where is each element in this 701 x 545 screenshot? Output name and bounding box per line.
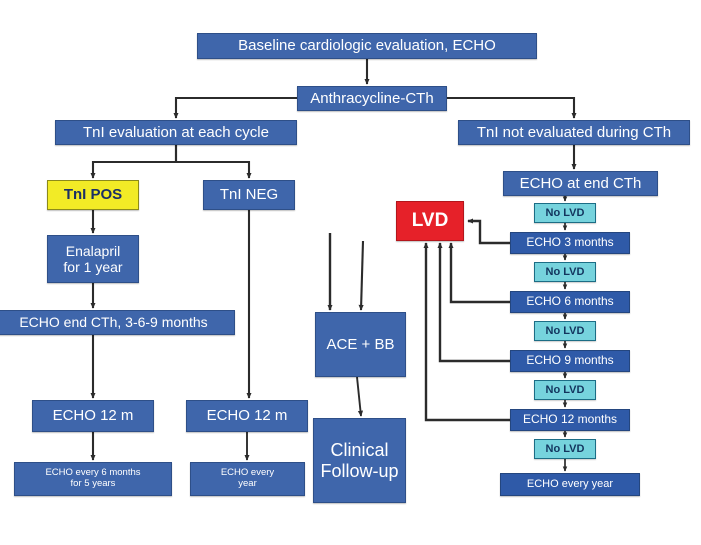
node-label: ACE + BB <box>324 336 398 353</box>
node-label: Clinical Follow-up <box>317 440 401 481</box>
edge-echo-3-months-to-lvd <box>468 221 510 243</box>
node-enalapril[interactable]: Enalapril for 1 year <box>47 235 139 283</box>
node-label: ECHO 12 months <box>520 413 620 427</box>
node-no-lvd-4[interactable]: No LVD <box>534 380 596 400</box>
edge-echo-12-months-to-lvd <box>426 243 510 420</box>
edge-echo-9-months-to-lvd <box>440 243 510 361</box>
edge-anthracycline-to-tni-eval <box>176 98 297 118</box>
node-label: No LVD <box>543 325 588 338</box>
node-tni-neg[interactable]: TnI NEG <box>203 180 295 210</box>
node-label: LVD <box>409 210 452 232</box>
edge-anthracycline-to-tni-not-eval <box>447 98 574 118</box>
node-echo-at-end-cth[interactable]: ECHO at end CTh <box>503 171 658 196</box>
node-label: ECHO 12 m <box>50 407 137 424</box>
node-echo-12m-left[interactable]: ECHO 12 m <box>32 400 154 432</box>
node-echo-12m-right[interactable]: ECHO 12 m <box>186 400 308 432</box>
node-baseline-evaluation[interactable]: Baseline cardiologic evaluation, ECHO <box>197 33 537 59</box>
node-anthracycline-cth[interactable]: Anthracycline-CTh <box>297 86 447 111</box>
node-label: TnI not evaluated during CTh <box>474 124 674 141</box>
node-echo-every-6-months-5-years[interactable]: ECHO every 6 months for 5 years <box>14 462 172 496</box>
node-label: ECHO at end CTh <box>517 175 645 192</box>
edge-ace-bb-to-clinical-follow-up <box>357 377 361 416</box>
node-echo-every-year-left[interactable]: ECHO every year <box>190 462 305 496</box>
node-lvd[interactable]: LVD <box>396 201 464 241</box>
edge-lvd-to-ace-bb <box>361 241 363 310</box>
node-label: TnI NEG <box>217 186 281 203</box>
node-label: ECHO every year <box>218 468 277 490</box>
node-echo-12-months[interactable]: ECHO 12 months <box>510 409 630 431</box>
node-no-lvd-5[interactable]: No LVD <box>534 439 596 459</box>
node-tni-pos[interactable]: TnI POS <box>47 180 139 210</box>
node-label: No LVD <box>543 207 588 220</box>
node-label: Baseline cardiologic evaluation, ECHO <box>235 37 499 54</box>
node-label: TnI POS <box>61 186 125 203</box>
edge-tni-eval-to-tni-pos <box>93 145 176 178</box>
node-label: ECHO 12 m <box>204 407 291 424</box>
node-label: ECHO 6 months <box>523 295 616 309</box>
node-label: ECHO 9 months <box>523 354 616 368</box>
node-echo-9-months[interactable]: ECHO 9 months <box>510 350 630 372</box>
node-label: No LVD <box>543 443 588 456</box>
node-echo-every-year-right[interactable]: ECHO every year <box>500 473 640 496</box>
node-no-lvd-2[interactable]: No LVD <box>534 262 596 282</box>
node-clinical-follow-up[interactable]: Clinical Follow-up <box>313 418 406 503</box>
node-label: Anthracycline-CTh <box>307 90 436 107</box>
node-label: ECHO every 6 months for 5 years <box>42 468 143 490</box>
node-label: ECHO every year <box>524 478 616 491</box>
node-ace-plus-bb[interactable]: ACE + BB <box>315 312 406 377</box>
node-no-lvd-1[interactable]: No LVD <box>534 203 596 223</box>
node-label: ECHO 3 months <box>523 236 616 250</box>
node-label: TnI evaluation at each cycle <box>80 124 272 141</box>
node-label: ECHO end CTh, 3-6-9 months <box>16 314 210 330</box>
node-label: No LVD <box>543 266 588 279</box>
node-tni-evaluation-each-cycle[interactable]: TnI evaluation at each cycle <box>55 120 297 145</box>
node-echo-3-months[interactable]: ECHO 3 months <box>510 232 630 254</box>
node-label: No LVD <box>543 384 588 397</box>
node-tni-not-evaluated[interactable]: TnI not evaluated during CTh <box>458 120 690 145</box>
edge-tni-eval-to-tni-neg <box>176 145 249 178</box>
node-no-lvd-3[interactable]: No LVD <box>534 321 596 341</box>
node-echo-end-cth-3-6-9-months[interactable]: ECHO end CTh, 3-6-9 months <box>0 310 235 335</box>
flowchart-canvas: Baseline cardiologic evaluation, ECHO An… <box>0 0 701 545</box>
node-label: Enalapril for 1 year <box>60 243 125 275</box>
node-echo-6-months[interactable]: ECHO 6 months <box>510 291 630 313</box>
edge-echo-6-months-to-lvd <box>451 243 510 302</box>
